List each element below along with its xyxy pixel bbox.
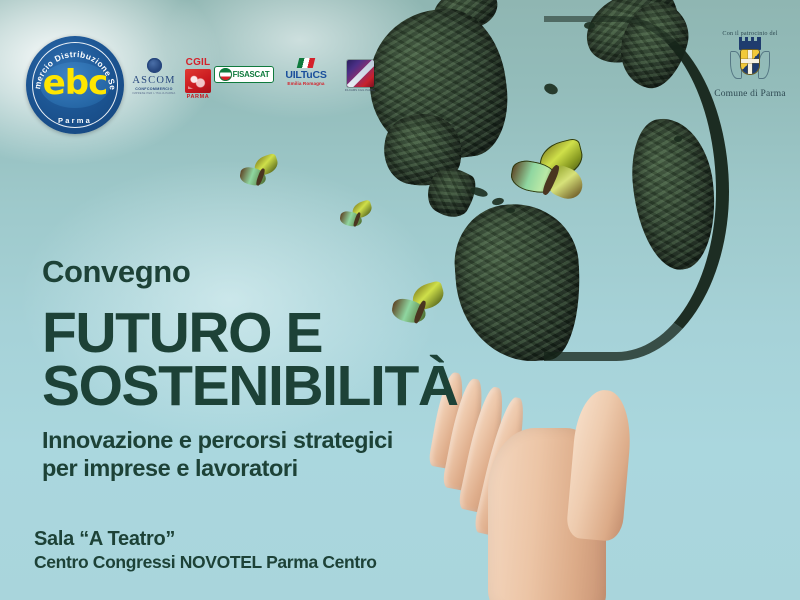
ascom-logo: ASCOM CONFCOMMERCIO IMPRESE PER L'ITALIA… <box>128 58 180 95</box>
cgil-logo: CGIL PARMA <box>181 57 215 100</box>
ebc-logo-wordmark: ebc <box>26 66 124 100</box>
butterfly-small-mid <box>340 202 374 234</box>
ascom-emblem-icon <box>147 58 162 73</box>
fourth-partner-sub: FILCAMS CGIL PARMA <box>336 89 384 92</box>
poster-title-line-2: SOSTENIBILITÀ <box>42 360 472 413</box>
venue-block: Sala “A Teatro” Centro Congressi NOVOTEL… <box>34 528 377 573</box>
patronage-block: Con il patrocinio del Comune di Parma <box>700 30 800 99</box>
hand-thumb <box>566 388 635 542</box>
comune-di-parma-crest-icon <box>730 41 770 87</box>
ascom-logo-sub: CONFCOMMERCIO <box>128 87 180 91</box>
ascom-logo-sub2: IMPRESE PER L'ITALIA PARMA <box>128 92 180 95</box>
uiltucs-logo-name: UILTuCS <box>277 69 335 81</box>
cgil-logo-name: CGIL <box>181 57 215 68</box>
ascom-logo-name: ASCOM <box>128 75 180 86</box>
laurel-branch-right <box>758 51 770 79</box>
butterfly-small-left <box>240 156 280 194</box>
fisascat-logo-row: FISASCAT <box>214 66 274 83</box>
poster-title-line-1: FUTURO E <box>42 307 472 360</box>
fisascat-logo-name: FISASCAT <box>233 70 270 79</box>
ebc-logo-city: Parma <box>26 116 124 125</box>
italian-flag-icon <box>297 58 315 68</box>
fourth-partner-logo: FILCAMS CGIL PARMA <box>336 60 384 92</box>
cgil-logo-sub: PARMA <box>181 94 215 100</box>
uiltucs-logo-sub: Emilia Romagna <box>277 81 335 86</box>
patronage-name: Comune di Parma <box>700 89 800 99</box>
crest-shield <box>741 50 759 74</box>
venue-place: Centro Congressi NOVOTEL Parma Centro <box>34 552 377 573</box>
event-kicker: Convegno <box>42 256 472 287</box>
fisascat-badge-icon <box>219 68 232 81</box>
crest-crown <box>739 41 761 50</box>
fisascat-logo: FISASCAT <box>214 66 274 83</box>
sponsor-logo-row: Commercio Distribuzione Servizi ebc Parm… <box>0 0 800 160</box>
fourth-partner-emblem-icon <box>347 60 374 87</box>
ebc-logo: Commercio Distribuzione Servizi ebc Parm… <box>26 36 124 134</box>
poster-text-block: Convegno FUTURO E SOSTENIBILITÀ Innovazi… <box>42 256 472 482</box>
poster-subtitle-line-2: per imprese e lavoratori <box>42 455 472 483</box>
poster-title: FUTURO E SOSTENIBILITÀ <box>42 307 472 413</box>
cgil-logo-emblem-icon <box>185 69 211 93</box>
patronage-prefix: Con il patrocinio del <box>700 30 800 37</box>
venue-hall: Sala “A Teatro” <box>34 528 377 551</box>
poster-canvas: Commercio Distribuzione Servizi ebc Parm… <box>0 0 800 600</box>
poster-subtitle-line-1: Innovazione e percorsi strategici <box>42 427 472 455</box>
poster-subtitle: Innovazione e percorsi strategici per im… <box>42 427 472 482</box>
uiltucs-logo: UILTuCS Emilia Romagna <box>277 58 335 86</box>
